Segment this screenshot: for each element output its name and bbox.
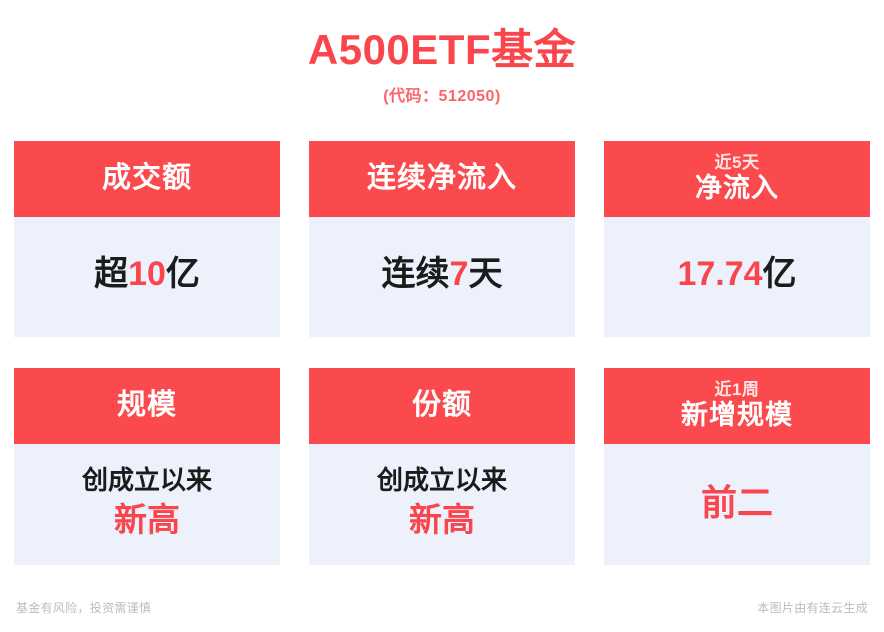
- value-unit: 亿: [166, 255, 200, 293]
- stat-card-consecutive-inflow: 连续净流入 连续7天: [309, 141, 575, 337]
- card-value-shares-top: 创成立以来: [377, 466, 507, 496]
- card-header-turnover: 成交额: [14, 141, 280, 217]
- stat-card-turnover: 成交额 超10亿: [14, 141, 280, 337]
- stat-card-grid: 成交额 超10亿 连续净流入 连续7天 近5天 净流入 17.74亿: [14, 141, 870, 565]
- card-value-turnover: 超10亿: [94, 255, 200, 294]
- card-header-title: 新增规模: [681, 401, 793, 431]
- infographic-page: A500ETF基金 (代码：512050) 成交额 超10亿 连续净流入 连续7…: [0, 0, 884, 632]
- card-body-scale: 创成立以来 新高: [14, 444, 280, 565]
- card-value-scale-bottom: 新高: [114, 501, 180, 539]
- page-footer: 基金有风险，投资需谨慎 本图片由有连云生成: [0, 598, 884, 616]
- footer-disclaimer: 基金有风险，投资需谨慎: [16, 599, 151, 616]
- card-header-shares: 份额: [309, 368, 575, 444]
- value-number: 17.74: [677, 255, 762, 293]
- page-title: A500ETF基金: [0, 0, 884, 73]
- page-header: A500ETF基金 (代码：512050): [0, 0, 884, 106]
- stat-card-scale: 规模 创成立以来 新高: [14, 368, 280, 565]
- card-header-title: 份额: [412, 390, 472, 422]
- card-value-consecutive-inflow: 连续7天: [382, 255, 503, 294]
- card-body-turnover: 超10亿: [14, 217, 280, 337]
- card-header-subtitle: 近1周: [715, 381, 760, 400]
- card-body-shares: 创成立以来 新高: [309, 444, 575, 565]
- stat-card-weekly-new-scale: 近1周 新增规模 前二: [604, 368, 870, 565]
- card-value-5day-net-inflow: 17.74亿: [677, 255, 796, 294]
- card-header-subtitle: 近5天: [715, 154, 760, 173]
- card-header-title: 规模: [117, 390, 177, 422]
- value-number: 7: [450, 255, 469, 293]
- card-body-consecutive-inflow: 连续7天: [309, 217, 575, 337]
- stat-card-5day-net-inflow: 近5天 净流入 17.74亿: [604, 141, 870, 337]
- card-value-shares-bottom: 新高: [409, 501, 475, 539]
- fund-code-subtitle: (代码：512050): [0, 73, 884, 106]
- card-header-title: 连续净流入: [367, 163, 517, 195]
- card-header-title: 成交额: [102, 163, 192, 195]
- stat-card-shares: 份额 创成立以来 新高: [309, 368, 575, 565]
- card-body-weekly-new-scale: 前二: [604, 444, 870, 565]
- card-header-title: 净流入: [695, 174, 779, 204]
- footer-attribution: 本图片由有连云生成: [757, 599, 868, 616]
- value-unit: 天: [468, 255, 502, 293]
- value-unit: 亿: [763, 255, 797, 293]
- value-prefix: 超: [94, 255, 128, 293]
- value-number: 10: [128, 255, 166, 293]
- card-value-scale-top: 创成立以来: [82, 466, 212, 496]
- card-header-consecutive-inflow: 连续净流入: [309, 141, 575, 217]
- card-header-scale: 规模: [14, 368, 280, 444]
- card-header-weekly-new-scale: 近1周 新增规模: [604, 368, 870, 444]
- card-body-5day-net-inflow: 17.74亿: [604, 217, 870, 337]
- value-prefix: 连续: [382, 255, 450, 293]
- card-value-weekly-new-scale: 前二: [701, 482, 773, 523]
- card-header-5day-net-inflow: 近5天 净流入: [604, 141, 870, 217]
